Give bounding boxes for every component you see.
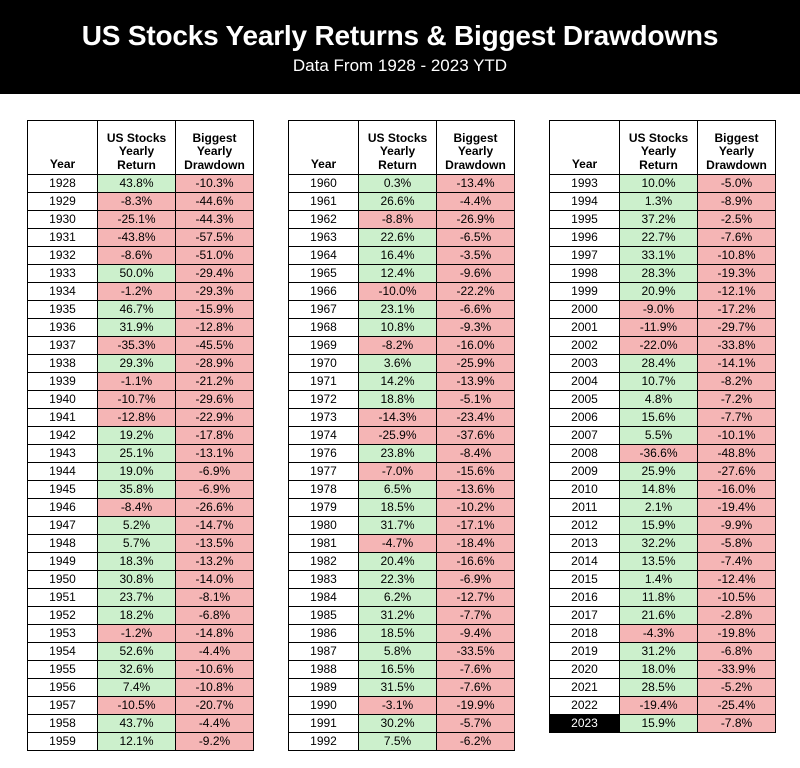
table-body-2: 199310.0%-5.0%19941.3%-8.9%199537.2%-2.5… xyxy=(550,175,776,733)
cell-biggest-drawdown: -10.3% xyxy=(176,175,254,193)
cell-year: 1932 xyxy=(28,247,98,265)
cell-biggest-drawdown: -7.6% xyxy=(698,229,776,247)
table-row: 202128.5%-5.2% xyxy=(550,679,776,697)
cell-biggest-drawdown: -7.7% xyxy=(437,607,515,625)
header-row: Year US Stocks Yearly Return Biggest Yea… xyxy=(550,121,776,175)
table-row: 201215.9%-9.9% xyxy=(550,517,776,535)
cell-year: 2020 xyxy=(550,661,620,679)
cell-yearly-return: 32.6% xyxy=(98,661,176,679)
cell-yearly-return: -1.1% xyxy=(98,373,176,391)
header-text-return-2: Yearly xyxy=(98,145,175,158)
table-row: 194219.2%-17.8% xyxy=(28,427,254,445)
table-row: 1966-10.0%-22.2% xyxy=(289,283,515,301)
cell-biggest-drawdown: -18.4% xyxy=(437,535,515,553)
header-text-drawdown-1: Biggest xyxy=(176,132,253,145)
table-row: 195030.8%-14.0% xyxy=(28,571,254,589)
cell-biggest-drawdown: -14.8% xyxy=(176,625,254,643)
cell-yearly-return: 32.2% xyxy=(620,535,698,553)
cell-biggest-drawdown: -27.6% xyxy=(698,463,776,481)
table-row: 194419.0%-6.9% xyxy=(28,463,254,481)
table-row: 2000-9.0%-17.2% xyxy=(550,301,776,319)
cell-biggest-drawdown: -33.8% xyxy=(698,337,776,355)
table-row: 198322.3%-6.9% xyxy=(289,571,515,589)
column-header-return: US Stocks Yearly Return xyxy=(620,121,698,175)
table-panel-1: Year US Stocks Yearly Return Biggest Yea… xyxy=(288,120,514,751)
table-row: 200328.4%-14.1% xyxy=(550,355,776,373)
table-row: 199828.3%-19.3% xyxy=(550,265,776,283)
table-row: 199130.2%-5.7% xyxy=(289,715,515,733)
table-row: 193350.0%-29.4% xyxy=(28,265,254,283)
cell-yearly-return: 23.7% xyxy=(98,589,176,607)
table-row: 1969-8.2%-16.0% xyxy=(289,337,515,355)
cell-yearly-return: 30.8% xyxy=(98,571,176,589)
table-row: 2001-11.9%-29.7% xyxy=(550,319,776,337)
table-row: 20151.4%-12.4% xyxy=(550,571,776,589)
header-text-drawdown-2: Yearly xyxy=(437,145,514,158)
cell-biggest-drawdown: -15.6% xyxy=(437,463,515,481)
table-row: 193829.3%-28.9% xyxy=(28,355,254,373)
cell-yearly-return: 1.3% xyxy=(620,193,698,211)
table-row: 2022-19.4%-25.4% xyxy=(550,697,776,715)
table-row: 198816.5%-7.6% xyxy=(289,661,515,679)
cell-year: 2016 xyxy=(550,589,620,607)
cell-yearly-return: 5.5% xyxy=(620,427,698,445)
cell-yearly-return: 4.8% xyxy=(620,391,698,409)
cell-year: 2018 xyxy=(550,625,620,643)
table-row: 195123.7%-8.1% xyxy=(28,589,254,607)
cell-biggest-drawdown: -4.4% xyxy=(437,193,515,211)
table-row: 1929-8.3%-44.6% xyxy=(28,193,254,211)
cell-biggest-drawdown: -5.0% xyxy=(698,175,776,193)
table-row: 196322.6%-6.5% xyxy=(289,229,515,247)
cell-year: 1929 xyxy=(28,193,98,211)
cell-year: 1982 xyxy=(289,553,359,571)
cell-year: 2015 xyxy=(550,571,620,589)
table-row: 196723.1%-6.6% xyxy=(289,301,515,319)
cell-year: 1944 xyxy=(28,463,98,481)
table-row: 198220.4%-16.6% xyxy=(289,553,515,571)
cell-year: 1956 xyxy=(28,679,98,697)
cell-biggest-drawdown: -44.6% xyxy=(176,193,254,211)
cell-yearly-return: 43.8% xyxy=(98,175,176,193)
table-row: 19567.4%-10.8% xyxy=(28,679,254,697)
table-row: 1977-7.0%-15.6% xyxy=(289,463,515,481)
cell-biggest-drawdown: -9.4% xyxy=(437,625,515,643)
table-row: 2008-36.6%-48.8% xyxy=(550,445,776,463)
cell-yearly-return: -25.1% xyxy=(98,211,176,229)
cell-year: 1930 xyxy=(28,211,98,229)
header-row: Year US Stocks Yearly Return Biggest Yea… xyxy=(289,121,515,175)
table-row: 1973-14.3%-23.4% xyxy=(289,409,515,427)
cell-year: 1999 xyxy=(550,283,620,301)
cell-year: 1976 xyxy=(289,445,359,463)
cell-year-highlighted: 2023 xyxy=(550,715,620,733)
cell-year: 1987 xyxy=(289,643,359,661)
table-row: 201413.5%-7.4% xyxy=(550,553,776,571)
cell-yearly-return: -10.0% xyxy=(359,283,437,301)
header-text-drawdown-2: Yearly xyxy=(176,145,253,158)
cell-biggest-drawdown: -12.1% xyxy=(698,283,776,301)
table-row: 20054.8%-7.2% xyxy=(550,391,776,409)
table-row: 1957-10.5%-20.7% xyxy=(28,697,254,715)
table-row: 1941-12.8%-22.9% xyxy=(28,409,254,427)
cell-yearly-return: 35.8% xyxy=(98,481,176,499)
table-row: 1981-4.7%-18.4% xyxy=(289,535,515,553)
cell-yearly-return: -14.3% xyxy=(359,409,437,427)
cell-biggest-drawdown: -9.2% xyxy=(176,733,254,751)
cell-yearly-return: 25.1% xyxy=(98,445,176,463)
header-banner: US Stocks Yearly Returns & Biggest Drawd… xyxy=(0,0,800,94)
cell-biggest-drawdown: -19.4% xyxy=(698,499,776,517)
cell-year: 2011 xyxy=(550,499,620,517)
returns-table-1: Year US Stocks Yearly Return Biggest Yea… xyxy=(288,120,515,751)
cell-yearly-return: 22.7% xyxy=(620,229,698,247)
column-header-year: Year xyxy=(28,121,98,175)
cell-yearly-return: 11.8% xyxy=(620,589,698,607)
table-body-0: 192843.8%-10.3%1929-8.3%-44.6%1930-25.1%… xyxy=(28,175,254,751)
header-text-year: Year xyxy=(550,158,619,171)
cell-biggest-drawdown: -3.5% xyxy=(437,247,515,265)
cell-biggest-drawdown: -4.4% xyxy=(176,643,254,661)
cell-year: 1963 xyxy=(289,229,359,247)
cell-yearly-return: 18.5% xyxy=(359,499,437,517)
table-row: 201611.8%-10.5% xyxy=(550,589,776,607)
cell-yearly-return: 7.4% xyxy=(98,679,176,697)
header-row: Year US Stocks Yearly Return Biggest Yea… xyxy=(28,121,254,175)
table-row: 198031.7%-17.1% xyxy=(289,517,515,535)
cell-year: 1994 xyxy=(550,193,620,211)
cell-year: 1935 xyxy=(28,301,98,319)
cell-year: 2001 xyxy=(550,319,620,337)
cell-year: 2007 xyxy=(550,427,620,445)
cell-year: 2005 xyxy=(550,391,620,409)
cell-yearly-return: 31.5% xyxy=(359,679,437,697)
cell-year: 1957 xyxy=(28,697,98,715)
cell-yearly-return: 28.5% xyxy=(620,679,698,697)
cell-yearly-return: 10.8% xyxy=(359,319,437,337)
cell-yearly-return: 28.4% xyxy=(620,355,698,373)
table-row: 192843.8%-10.3% xyxy=(28,175,254,193)
cell-year: 1980 xyxy=(289,517,359,535)
cell-year: 1954 xyxy=(28,643,98,661)
cell-yearly-return: 5.8% xyxy=(359,643,437,661)
cell-biggest-drawdown: -29.3% xyxy=(176,283,254,301)
cell-yearly-return: 15.9% xyxy=(620,517,698,535)
cell-yearly-return: 31.9% xyxy=(98,319,176,337)
table-row: 195912.1%-9.2% xyxy=(28,733,254,751)
cell-biggest-drawdown: -29.7% xyxy=(698,319,776,337)
cell-year: 1945 xyxy=(28,481,98,499)
table-row: 202315.9%-7.8% xyxy=(550,715,776,733)
cell-year: 1931 xyxy=(28,229,98,247)
cell-year: 1985 xyxy=(289,607,359,625)
table-row: 197218.8%-5.1% xyxy=(289,391,515,409)
cell-yearly-return: -8.2% xyxy=(359,337,437,355)
cell-year: 1979 xyxy=(289,499,359,517)
table-row: 197623.8%-8.4% xyxy=(289,445,515,463)
table-row: 199310.0%-5.0% xyxy=(550,175,776,193)
cell-biggest-drawdown: -13.9% xyxy=(437,373,515,391)
cell-year: 2022 xyxy=(550,697,620,715)
cell-yearly-return: 6.5% xyxy=(359,481,437,499)
cell-biggest-drawdown: -8.9% xyxy=(698,193,776,211)
cell-biggest-drawdown: -23.4% xyxy=(437,409,515,427)
cell-year: 1965 xyxy=(289,265,359,283)
cell-year: 1936 xyxy=(28,319,98,337)
table-row: 20075.5%-10.1% xyxy=(550,427,776,445)
cell-year: 1977 xyxy=(289,463,359,481)
cell-yearly-return: 5.7% xyxy=(98,535,176,553)
table-row: 1931-43.8%-57.5% xyxy=(28,229,254,247)
header-text-year: Year xyxy=(289,158,358,171)
table-row: 1932-8.6%-51.0% xyxy=(28,247,254,265)
table-header-0: Year US Stocks Yearly Return Biggest Yea… xyxy=(28,121,254,175)
cell-year: 2008 xyxy=(550,445,620,463)
table-row: 195843.7%-4.4% xyxy=(28,715,254,733)
page-subtitle: Data From 1928 - 2023 YTD xyxy=(293,56,507,76)
cell-biggest-drawdown: -19.8% xyxy=(698,625,776,643)
table-row: 199537.2%-2.5% xyxy=(550,211,776,229)
table-row: 195452.6%-4.4% xyxy=(28,643,254,661)
table-row: 198531.2%-7.7% xyxy=(289,607,515,625)
table-row: 199733.1%-10.8% xyxy=(550,247,776,265)
cell-biggest-drawdown: -2.5% xyxy=(698,211,776,229)
cell-yearly-return: 12.4% xyxy=(359,265,437,283)
cell-year: 1970 xyxy=(289,355,359,373)
cell-year: 1983 xyxy=(289,571,359,589)
header-text-return-3: Return xyxy=(620,159,697,172)
cell-year: 1971 xyxy=(289,373,359,391)
cell-yearly-return: -8.6% xyxy=(98,247,176,265)
cell-biggest-drawdown: -25.9% xyxy=(437,355,515,373)
cell-year: 1934 xyxy=(28,283,98,301)
cell-biggest-drawdown: -29.6% xyxy=(176,391,254,409)
cell-yearly-return: 29.3% xyxy=(98,355,176,373)
table-row: 201332.2%-5.8% xyxy=(550,535,776,553)
cell-year: 1991 xyxy=(289,715,359,733)
cell-biggest-drawdown: -14.7% xyxy=(176,517,254,535)
cell-biggest-drawdown: -7.6% xyxy=(437,679,515,697)
cell-yearly-return: 31.2% xyxy=(359,607,437,625)
cell-year: 1938 xyxy=(28,355,98,373)
header-text-drawdown-3: Drawdown xyxy=(698,159,775,172)
cell-yearly-return: 14.8% xyxy=(620,481,698,499)
cell-year: 1941 xyxy=(28,409,98,427)
table-row: 1946-8.4%-26.6% xyxy=(28,499,254,517)
cell-year: 1946 xyxy=(28,499,98,517)
cell-year: 1993 xyxy=(550,175,620,193)
cell-biggest-drawdown: -10.5% xyxy=(698,589,776,607)
cell-biggest-drawdown: -26.9% xyxy=(437,211,515,229)
cell-yearly-return: 3.6% xyxy=(359,355,437,373)
cell-year: 1974 xyxy=(289,427,359,445)
cell-year: 1961 xyxy=(289,193,359,211)
header-text-year: Year xyxy=(28,158,97,171)
column-header-year: Year xyxy=(550,121,620,175)
cell-biggest-drawdown: -4.4% xyxy=(176,715,254,733)
table-row: 19475.2%-14.7% xyxy=(28,517,254,535)
table-row: 20112.1%-19.4% xyxy=(550,499,776,517)
cell-biggest-drawdown: -8.4% xyxy=(437,445,515,463)
cell-year: 1962 xyxy=(289,211,359,229)
cell-year: 1988 xyxy=(289,661,359,679)
cell-yearly-return: 21.6% xyxy=(620,607,698,625)
cell-yearly-return: -3.1% xyxy=(359,697,437,715)
cell-biggest-drawdown: -15.9% xyxy=(176,301,254,319)
cell-biggest-drawdown: -33.5% xyxy=(437,643,515,661)
table-body-1: 19600.3%-13.4%196126.6%-4.4%1962-8.8%-26… xyxy=(289,175,515,751)
cell-yearly-return: -7.0% xyxy=(359,463,437,481)
table-row: 19600.3%-13.4% xyxy=(289,175,515,193)
header-text-drawdown-1: Biggest xyxy=(437,132,514,145)
header-text-drawdown-3: Drawdown xyxy=(437,159,514,172)
cell-biggest-drawdown: -13.1% xyxy=(176,445,254,463)
cell-biggest-drawdown: -16.6% xyxy=(437,553,515,571)
cell-biggest-drawdown: -57.5% xyxy=(176,229,254,247)
cell-yearly-return: -10.7% xyxy=(98,391,176,409)
cell-biggest-drawdown: -25.4% xyxy=(698,697,776,715)
cell-yearly-return: 15.9% xyxy=(620,715,698,733)
cell-biggest-drawdown: -19.9% xyxy=(437,697,515,715)
cell-biggest-drawdown: -7.4% xyxy=(698,553,776,571)
cell-year: 1933 xyxy=(28,265,98,283)
cell-biggest-drawdown: -7.8% xyxy=(698,715,776,733)
table-row: 2018-4.3%-19.8% xyxy=(550,625,776,643)
cell-yearly-return: 5.2% xyxy=(98,517,176,535)
cell-yearly-return: 2.1% xyxy=(620,499,698,517)
cell-yearly-return: 33.1% xyxy=(620,247,698,265)
cell-biggest-drawdown: -9.3% xyxy=(437,319,515,337)
cell-yearly-return: 20.4% xyxy=(359,553,437,571)
cell-year: 1959 xyxy=(28,733,98,751)
page-root: US Stocks Yearly Returns & Biggest Drawd… xyxy=(0,0,800,768)
cell-yearly-return: 12.1% xyxy=(98,733,176,751)
header-text-return-1: US Stocks xyxy=(359,132,436,145)
table-row: 194325.1%-13.1% xyxy=(28,445,254,463)
cell-biggest-drawdown: -6.9% xyxy=(176,481,254,499)
table-row: 196810.8%-9.3% xyxy=(289,319,515,337)
cell-yearly-return: 16.5% xyxy=(359,661,437,679)
table-row: 1940-10.7%-29.6% xyxy=(28,391,254,409)
cell-biggest-drawdown: -33.9% xyxy=(698,661,776,679)
cell-biggest-drawdown: -5.7% xyxy=(437,715,515,733)
cell-biggest-drawdown: -10.1% xyxy=(698,427,776,445)
table-row: 199920.9%-12.1% xyxy=(550,283,776,301)
cell-yearly-return: 46.7% xyxy=(98,301,176,319)
column-header-drawdown: Biggest Yearly Drawdown xyxy=(698,121,776,175)
cell-yearly-return: 25.9% xyxy=(620,463,698,481)
cell-year: 1967 xyxy=(289,301,359,319)
cell-year: 1989 xyxy=(289,679,359,697)
table-row: 1930-25.1%-44.3% xyxy=(28,211,254,229)
cell-yearly-return: 22.6% xyxy=(359,229,437,247)
cell-year: 2014 xyxy=(550,553,620,571)
table-row: 197114.2%-13.9% xyxy=(289,373,515,391)
cell-biggest-drawdown: -10.8% xyxy=(176,679,254,697)
cell-biggest-drawdown: -51.0% xyxy=(176,247,254,265)
cell-biggest-drawdown: -5.2% xyxy=(698,679,776,697)
cell-year: 1997 xyxy=(550,247,620,265)
cell-yearly-return: -8.4% xyxy=(98,499,176,517)
cell-yearly-return: -4.3% xyxy=(620,625,698,643)
column-header-drawdown: Biggest Yearly Drawdown xyxy=(437,121,515,175)
cell-yearly-return: 18.5% xyxy=(359,625,437,643)
table-header-1: Year US Stocks Yearly Return Biggest Yea… xyxy=(289,121,515,175)
table-header-2: Year US Stocks Yearly Return Biggest Yea… xyxy=(550,121,776,175)
cell-yearly-return: 52.6% xyxy=(98,643,176,661)
table-row: 202018.0%-33.9% xyxy=(550,661,776,679)
table-row: 200925.9%-27.6% xyxy=(550,463,776,481)
cell-biggest-drawdown: -13.6% xyxy=(437,481,515,499)
cell-biggest-drawdown: -5.1% xyxy=(437,391,515,409)
cell-year: 1995 xyxy=(550,211,620,229)
cell-biggest-drawdown: -10.8% xyxy=(698,247,776,265)
cell-biggest-drawdown: -17.2% xyxy=(698,301,776,319)
cell-year: 1986 xyxy=(289,625,359,643)
table-row: 196416.4%-3.5% xyxy=(289,247,515,265)
cell-yearly-return: 14.2% xyxy=(359,373,437,391)
table-row: 198931.5%-7.6% xyxy=(289,679,515,697)
cell-yearly-return: -9.0% xyxy=(620,301,698,319)
cell-yearly-return: 31.7% xyxy=(359,517,437,535)
cell-year: 1947 xyxy=(28,517,98,535)
cell-biggest-drawdown: -12.4% xyxy=(698,571,776,589)
cell-year: 1928 xyxy=(28,175,98,193)
cell-year: 1939 xyxy=(28,373,98,391)
table-row: 201014.8%-16.0% xyxy=(550,481,776,499)
cell-yearly-return: 19.2% xyxy=(98,427,176,445)
cell-biggest-drawdown: -13.4% xyxy=(437,175,515,193)
table-row: 195532.6%-10.6% xyxy=(28,661,254,679)
cell-year: 2000 xyxy=(550,301,620,319)
cell-year: 1998 xyxy=(550,265,620,283)
cell-biggest-drawdown: -6.9% xyxy=(437,571,515,589)
cell-biggest-drawdown: -37.6% xyxy=(437,427,515,445)
table-row: 1974-25.9%-37.6% xyxy=(289,427,515,445)
cell-yearly-return: -22.0% xyxy=(620,337,698,355)
cell-biggest-drawdown: -16.0% xyxy=(437,337,515,355)
table-row: 19927.5%-6.2% xyxy=(289,733,515,751)
cell-year: 1968 xyxy=(289,319,359,337)
cell-year: 2010 xyxy=(550,481,620,499)
cell-biggest-drawdown: -28.9% xyxy=(176,355,254,373)
table-row: 1934-1.2%-29.3% xyxy=(28,283,254,301)
cell-biggest-drawdown: -45.5% xyxy=(176,337,254,355)
cell-biggest-drawdown: -20.7% xyxy=(176,697,254,715)
cell-biggest-drawdown: -48.8% xyxy=(698,445,776,463)
cell-yearly-return: 10.0% xyxy=(620,175,698,193)
cell-yearly-return: 23.1% xyxy=(359,301,437,319)
table-row: 196512.4%-9.6% xyxy=(289,265,515,283)
cell-biggest-drawdown: -6.8% xyxy=(176,607,254,625)
cell-yearly-return: 6.2% xyxy=(359,589,437,607)
cell-biggest-drawdown: -12.8% xyxy=(176,319,254,337)
cell-year: 1966 xyxy=(289,283,359,301)
cell-year: 2021 xyxy=(550,679,620,697)
cell-biggest-drawdown: -6.5% xyxy=(437,229,515,247)
cell-biggest-drawdown: -10.2% xyxy=(437,499,515,517)
cell-year: 1950 xyxy=(28,571,98,589)
cell-biggest-drawdown: -22.9% xyxy=(176,409,254,427)
cell-yearly-return: -12.8% xyxy=(98,409,176,427)
cell-yearly-return: 19.0% xyxy=(98,463,176,481)
cell-biggest-drawdown: -7.7% xyxy=(698,409,776,427)
header-text-drawdown-3: Drawdown xyxy=(176,159,253,172)
cell-yearly-return: 31.2% xyxy=(620,643,698,661)
table-row: 19941.3%-8.9% xyxy=(550,193,776,211)
column-header-drawdown: Biggest Yearly Drawdown xyxy=(176,121,254,175)
cell-yearly-return: -43.8% xyxy=(98,229,176,247)
